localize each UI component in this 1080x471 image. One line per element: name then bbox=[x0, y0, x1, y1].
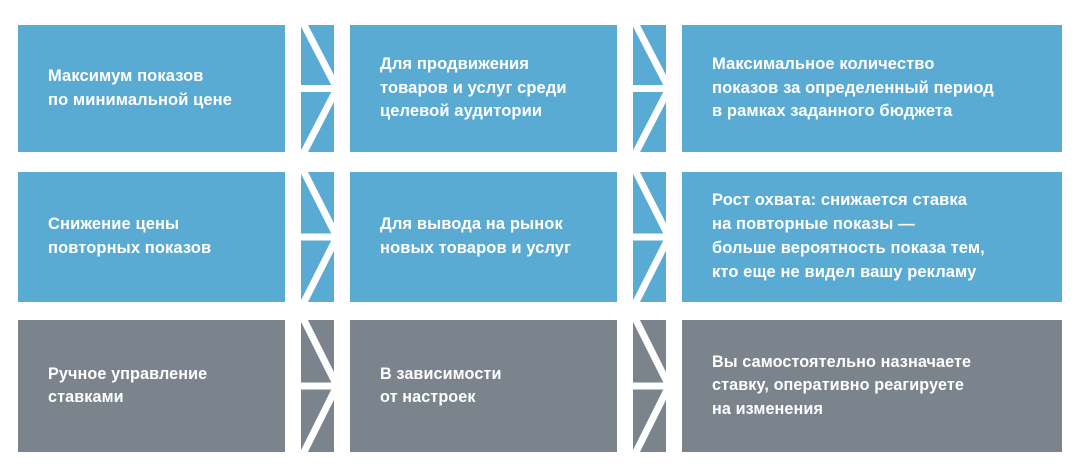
row1-arrow-connector-2 bbox=[633, 25, 666, 152]
diagram-row-manual-bids: Ручное управление ставками В зависимости… bbox=[0, 320, 1080, 452]
row1-result-text: Максимальное количество показов за опред… bbox=[682, 53, 1006, 125]
row1-result-box[interactable]: Максимальное количество показов за опред… bbox=[682, 25, 1062, 152]
row3-strategy-text: Ручное управление ставками bbox=[18, 363, 219, 410]
row2-strategy-box[interactable]: Снижение цены повторных показов bbox=[18, 172, 285, 302]
arrow-right-icon bbox=[617, 25, 682, 152]
row3-strategy-box[interactable]: Ручное управление ставками bbox=[18, 320, 285, 452]
row1-purpose-box[interactable]: Для продвижения товаров и услуг среди це… bbox=[350, 25, 617, 152]
arrow-right-icon bbox=[617, 172, 682, 302]
arrow-right-icon bbox=[285, 172, 350, 302]
row3-result-text: Вы самостоятельно назначаете ставку, опе… bbox=[682, 351, 983, 421]
diagram-row-price-reduction: Снижение цены повторных показов Для выво… bbox=[0, 172, 1080, 302]
row3-result-box[interactable]: Вы самостоятельно назначаете ставку, опе… bbox=[682, 320, 1062, 452]
row1-arrow-connector-1 bbox=[301, 25, 334, 152]
row3-arrow-connector-2 bbox=[633, 320, 666, 452]
row1-strategy-text: Максимум показов по минимальной цене bbox=[18, 65, 244, 113]
row2-arrow-connector-1 bbox=[301, 172, 334, 302]
row3-arrow-connector-1 bbox=[301, 320, 334, 452]
arrow-right-icon bbox=[285, 320, 350, 452]
row3-purpose-text: В зависимости от настроек bbox=[350, 363, 514, 410]
row2-purpose-text: Для вывода на рынок новых товаров и услу… bbox=[350, 213, 583, 261]
row3-purpose-box[interactable]: В зависимости от настроек bbox=[350, 320, 617, 452]
process-comparison-diagram: Максимум показов по минимальной цене Для… bbox=[0, 0, 1080, 471]
row2-arrow-connector-2 bbox=[633, 172, 666, 302]
arrow-right-icon bbox=[285, 25, 350, 152]
diagram-row-max-impressions: Максимум показов по минимальной цене Для… bbox=[0, 25, 1080, 152]
row2-purpose-box[interactable]: Для вывода на рынок новых товаров и услу… bbox=[350, 172, 617, 302]
arrow-right-icon bbox=[617, 320, 682, 452]
row2-strategy-text: Снижение цены повторных показов bbox=[18, 213, 223, 261]
row1-purpose-text: Для продвижения товаров и услуг среди це… bbox=[350, 53, 579, 125]
row2-result-text: Рост охвата: снижается ставка на повторн… bbox=[682, 189, 997, 285]
row2-result-box[interactable]: Рост охвата: снижается ставка на повторн… bbox=[682, 172, 1062, 302]
row1-strategy-box[interactable]: Максимум показов по минимальной цене bbox=[18, 25, 285, 152]
